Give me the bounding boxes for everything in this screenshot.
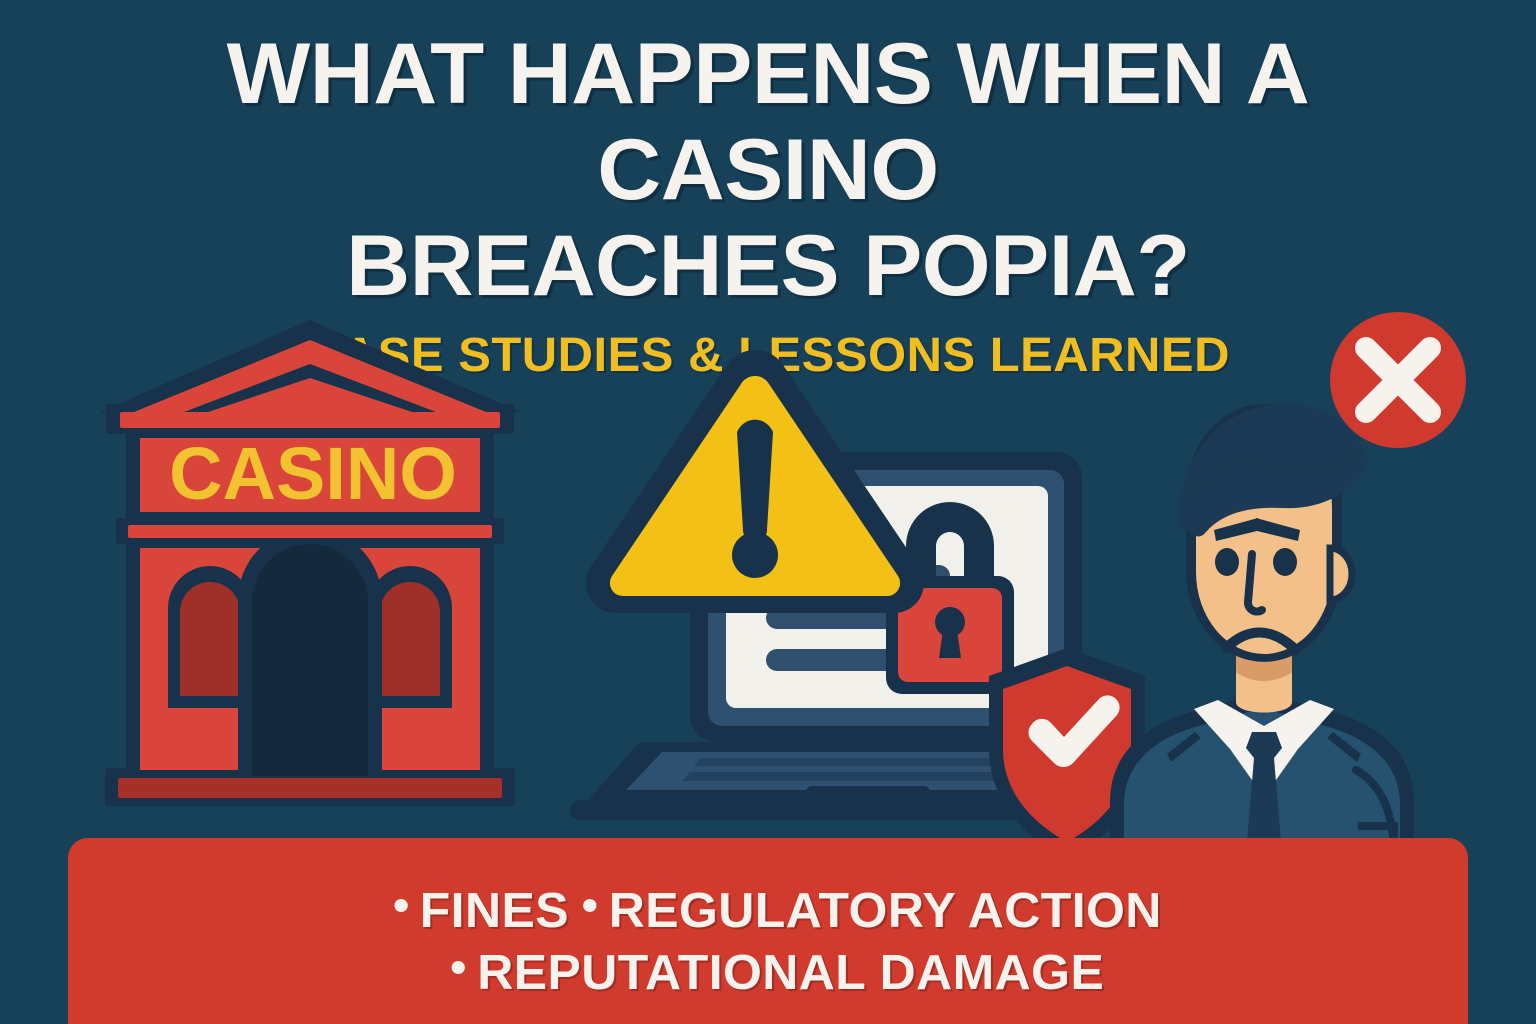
warning-triangle-icon <box>586 350 924 613</box>
page-title-line-2: BREACHES POPIA? <box>47 218 1489 314</box>
page-title-line-1: WHAT HAPPENS WHEN A CASINO <box>47 26 1489 218</box>
list-item-label: FINES <box>420 884 569 938</box>
infographic-canvas: WHAT HAPPENS WHEN A CASINO BREACHES POPI… <box>0 0 1536 1024</box>
bullet-dot-icon <box>394 899 407 912</box>
laptop-icon <box>570 452 1206 820</box>
worried-businessman-icon <box>1110 404 1414 860</box>
page-title: WHAT HAPPENS WHEN A CASINO BREACHES POPI… <box>47 26 1489 314</box>
consequences-list: FINES REGULATORY ACTION REPUTATIONAL DAM… <box>105 880 1451 1004</box>
list-item-label: REPUTATIONAL DAMAGE <box>477 946 1104 1000</box>
laptop-screen-text-lines <box>766 565 950 671</box>
error-x-circle-icon <box>1330 312 1466 448</box>
list-item-label: REGULATORY ACTION <box>609 884 1162 938</box>
shield-check-icon <box>989 648 1145 860</box>
list-item: REGULATORY ACTION <box>583 884 1162 938</box>
padlock-icon <box>886 502 1014 694</box>
consequences-banner: FINES REGULATORY ACTION REPUTATIONAL DAM… <box>68 838 1468 1024</box>
casino-sign-label: CASINO <box>169 432 457 515</box>
bullet-dot-icon <box>452 961 465 974</box>
heading-block: WHAT HAPPENS WHEN A CASINO BREACHES POPI… <box>0 26 1536 384</box>
casino-building-icon: CASINO <box>100 320 520 806</box>
list-item: FINES <box>394 884 569 938</box>
bullet-dot-icon <box>583 899 596 912</box>
list-item: REPUTATIONAL DAMAGE <box>452 946 1104 1000</box>
illustration-group: CASINO <box>0 300 1536 860</box>
page-subtitle: CASE STUDIES & LESSONS LEARNED <box>0 328 1536 384</box>
